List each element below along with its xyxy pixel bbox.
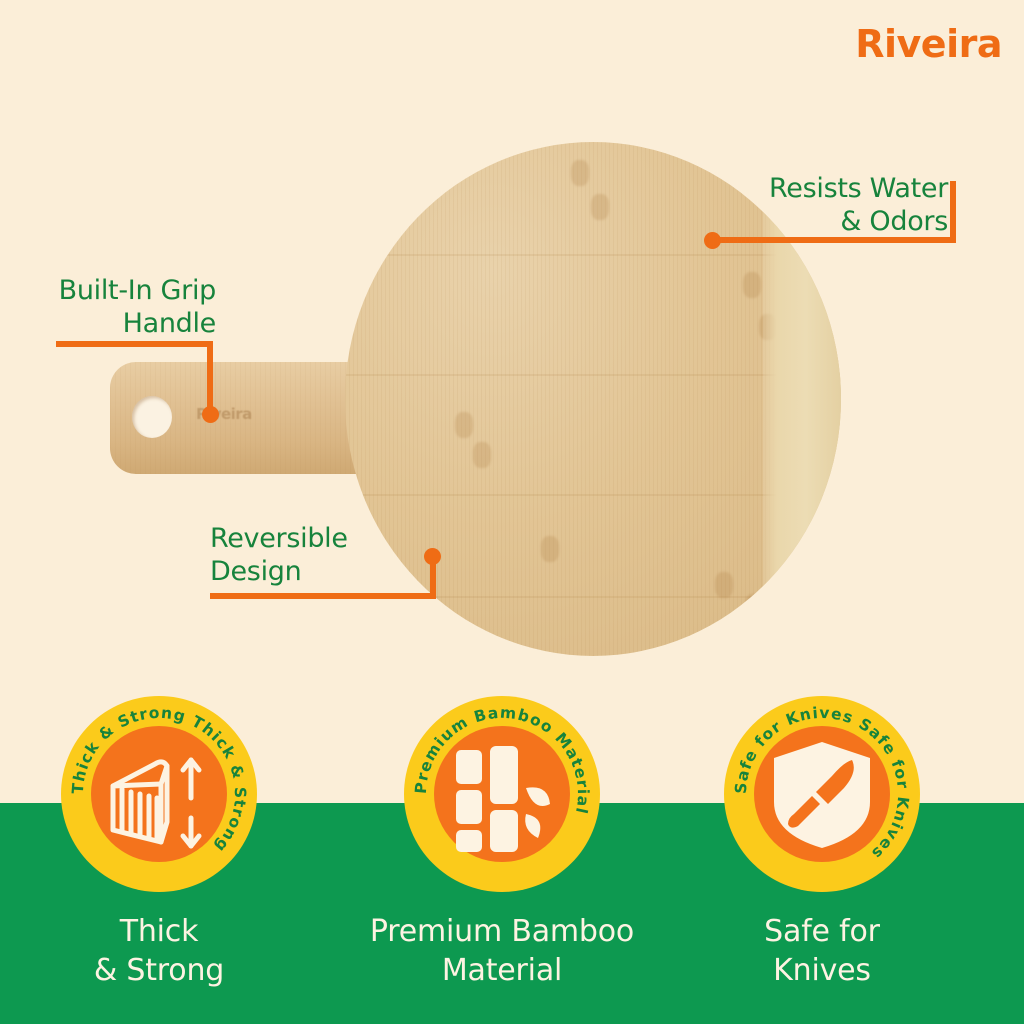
bamboo-node xyxy=(455,412,473,438)
bamboo-node xyxy=(541,536,559,562)
bamboo-node xyxy=(745,594,763,620)
callout-label-built-in-grip: Built-In Grip Handle xyxy=(52,274,216,341)
callout-marker-reversible-design xyxy=(424,548,441,565)
badge-premium-bamboo: Premium Bamboo Material xyxy=(404,696,600,892)
callout-leader-line-resists-water xyxy=(712,237,956,243)
hanging-hole xyxy=(132,396,172,438)
badge-caption-safe-for-knives: Safe for Knives xyxy=(700,912,944,990)
shield-knife-icon xyxy=(754,726,890,862)
badge-caption-thick-strong: Thick & Strong xyxy=(39,912,279,990)
callout-marker-built-in-grip xyxy=(202,406,219,423)
bamboo-node xyxy=(715,572,733,598)
feature-badges: Thick & Strong Thick & Strong xyxy=(0,696,1024,896)
bamboo-node xyxy=(571,160,589,186)
bamboo-stalk-icon xyxy=(434,726,570,862)
badge-caption-premium-bamboo: Premium Bamboo Material xyxy=(340,912,664,990)
infographic-canvas: Riveira Riveira Resists Water & Od xyxy=(0,0,1024,1024)
bamboo-node xyxy=(743,272,761,298)
badge-safe-for-knives: Safe for Knives Safe for Knives xyxy=(724,696,920,892)
callout-leader-line-reversible-design xyxy=(210,593,436,599)
callout-label-resists-water: Resists Water & Odors xyxy=(769,172,948,239)
callout-leader-line-built-in-grip xyxy=(56,341,213,347)
badge-thick-strong: Thick & Strong Thick & Strong xyxy=(61,696,257,892)
bamboo-node xyxy=(473,442,491,468)
callout-bracket-built-in-grip xyxy=(207,341,213,415)
round-board-surface xyxy=(345,142,841,656)
board-thickness-arrows-icon xyxy=(91,726,227,862)
product-image: Riveira xyxy=(0,0,1024,804)
callout-label-reversible-design: Reversible Design xyxy=(210,522,348,589)
callout-bracket-resists-water xyxy=(950,181,956,243)
bamboo-node xyxy=(591,194,609,220)
